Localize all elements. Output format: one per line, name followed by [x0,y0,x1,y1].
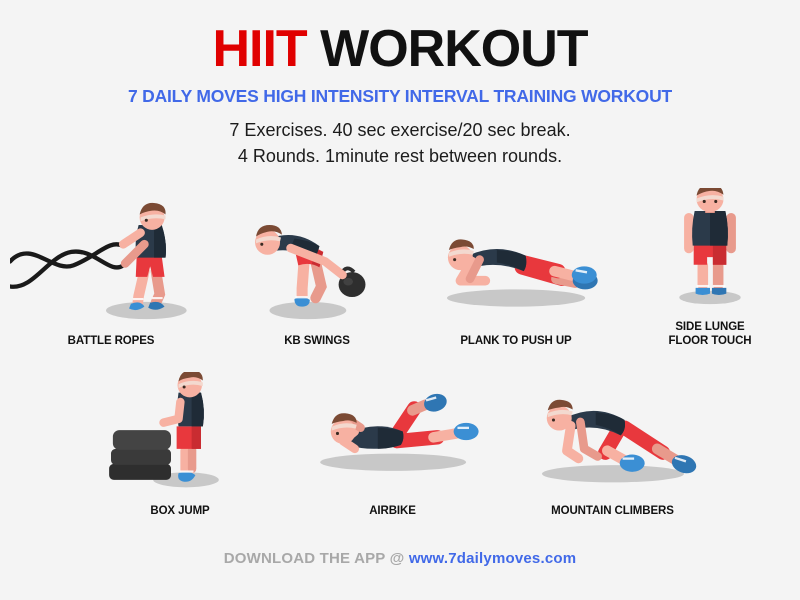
exercise-label: MOUNTAIN CLIMBERS [551,504,674,518]
exercise-row-1: BATTLE ROPES [0,188,800,349]
title-rest: WORKOUT [307,20,588,78]
hiit-workout-poster: HIIT WORKOUT 7 DAILY MOVES HIGH INTENSIT… [0,0,800,600]
exercise-battle-ropes[interactable]: BATTLE ROPES [0,188,222,349]
side-lunge-floor-touch-illustration [638,188,782,308]
exercise-label: AIRBIKE [369,504,416,518]
title-accent: HIIT [212,20,306,78]
exercise-row-2: BOX JUMP [0,372,800,518]
exercise-label: KB SWINGS [284,334,350,348]
kb-swings-illustration [233,202,401,322]
footer-download-cta: DOWNLOAD THE APP @ www.7dailymoves.com [0,550,800,567]
page-title: HIIT WORKOUT [0,0,800,77]
exercise-label: PLANK TO PUSH UP [460,334,571,348]
battle-ropes-illustration [10,202,212,322]
description-line-1: 7 Exercises. 40 sec exercise/20 sec brea… [229,120,570,140]
exercise-kb-swings[interactable]: KB SWINGS [222,188,412,349]
subtitle: 7 DAILY MOVES HIGH INTENSITY INTERVAL TR… [0,77,800,107]
workout-description: 7 Exercises. 40 sec exercise/20 sec brea… [0,107,800,169]
plank-to-push-up-illustration [422,202,609,322]
exercise-mountain-climbers[interactable]: MOUNTAIN CLIMBERS [495,372,730,518]
airbike-illustration [301,372,483,492]
exercise-label: BOX JUMP [150,504,209,518]
exercise-airbike[interactable]: AIRBIKE [290,372,495,518]
exercise-label: SIDE LUNGE FLOOR TOUCH [668,320,751,349]
website-url[interactable]: www.7dailymoves.com [409,550,576,567]
exercise-side-lunge-floor-touch[interactable]: SIDE LUNGE FLOOR TOUCH [620,188,800,349]
description-line-2: 4 Rounds. 1minute rest between rounds. [238,146,562,166]
exercise-box-jump[interactable]: BOX JUMP [70,372,290,518]
exercise-plank-to-push-up[interactable]: PLANK TO PUSH UP [412,188,620,349]
mountain-climbers-illustration [517,372,709,492]
box-jump-illustration [96,372,265,492]
exercise-label: BATTLE ROPES [68,334,155,348]
footer-prefix: DOWNLOAD THE APP @ [224,550,409,567]
